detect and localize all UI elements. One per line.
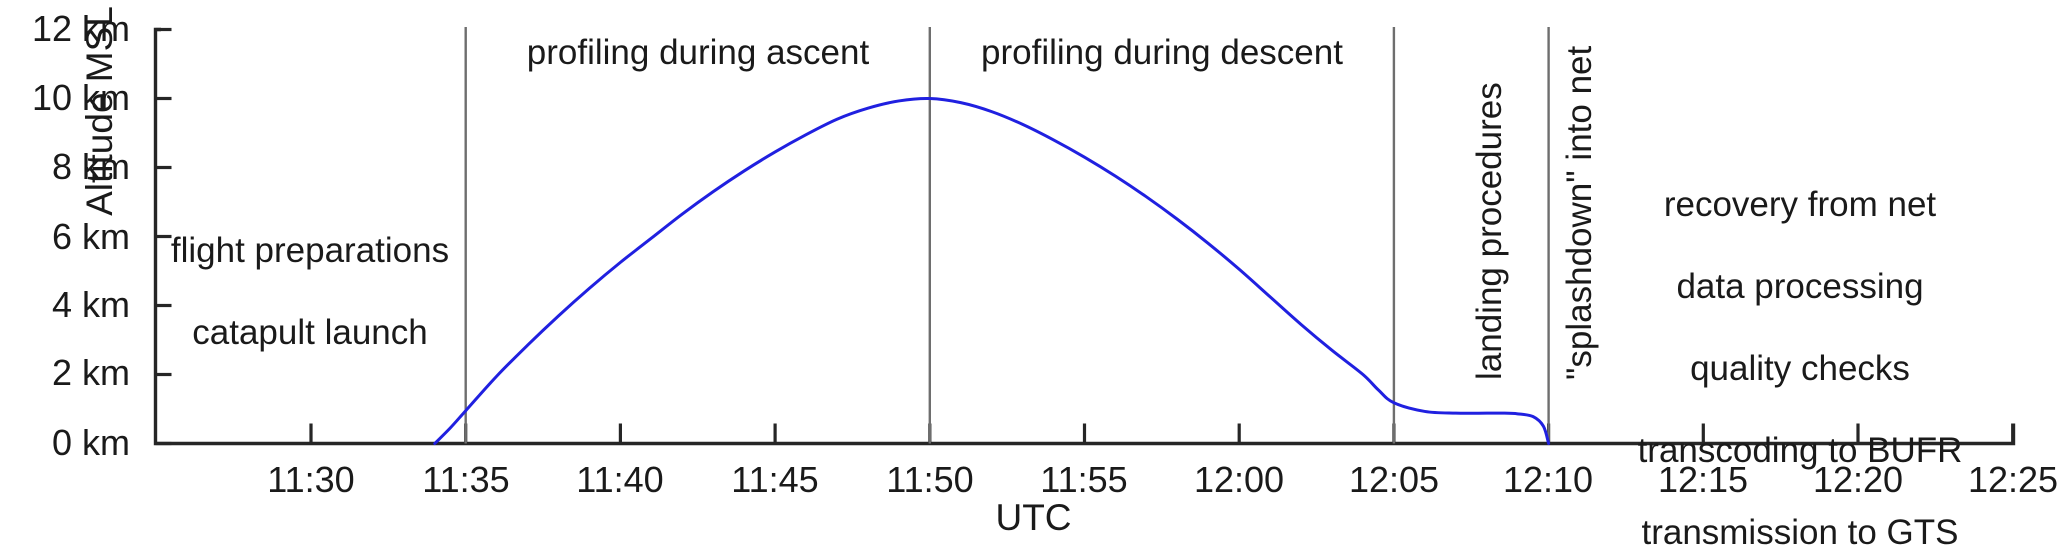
- x-tick-label-1205: 12:05: [1304, 462, 1484, 498]
- x-tick-label-1150: 11:50: [840, 462, 1020, 498]
- annotation-flight-preparations: flight preparations catapult launch: [165, 189, 455, 394]
- y-tick-label-12km: 12 km: [0, 11, 130, 47]
- x-tick-label-1145: 11:45: [685, 462, 865, 498]
- x-tick-label-1155: 11:55: [994, 462, 1174, 498]
- annotation-prep-line-2: catapult launch: [165, 312, 455, 353]
- annotation-prep-line-1: flight preparations: [165, 230, 455, 271]
- chart-figure: Altitude MSL UTC 12 km 10 km 8 km 6 km 4…: [0, 0, 2067, 558]
- annotation-profiling-descent: profiling during descent: [932, 33, 1392, 73]
- annotation-recovery: recovery from net data processing qualit…: [1590, 143, 2010, 558]
- phase-separators: [466, 27, 1549, 444]
- y-tick-label-6km: 6 km: [0, 219, 130, 255]
- y-tick-label-10km: 10 km: [0, 80, 130, 116]
- y-tick-label-4km: 4 km: [0, 287, 130, 323]
- annotation-profiling-ascent: profiling during ascent: [468, 33, 928, 73]
- x-tick-label-1140: 11:40: [530, 462, 710, 498]
- x-tick-label-1130: 11:30: [221, 462, 401, 498]
- annotation-recovery-line-2: data processing: [1590, 266, 2010, 307]
- y-tick-label-0km: 0 km: [0, 425, 130, 461]
- annotation-recovery-line-3: quality checks: [1590, 348, 2010, 389]
- x-tick-label-1135: 11:35: [376, 462, 556, 498]
- y-tick-label-2km: 2 km: [0, 355, 130, 391]
- annotation-landing-line-1: landing procedures: [1467, 20, 1512, 380]
- annotation-recovery-line-5: transmission to GTS: [1590, 512, 2010, 553]
- y-tick-label-8km: 8 km: [0, 149, 130, 185]
- altitude-profile-line: [435, 98, 1549, 443]
- annotation-recovery-line-4: transcoding to BUFR: [1590, 430, 2010, 471]
- x-tick-label-1200: 12:00: [1149, 462, 1329, 498]
- annotation-recovery-line-1: recovery from net: [1590, 184, 2010, 225]
